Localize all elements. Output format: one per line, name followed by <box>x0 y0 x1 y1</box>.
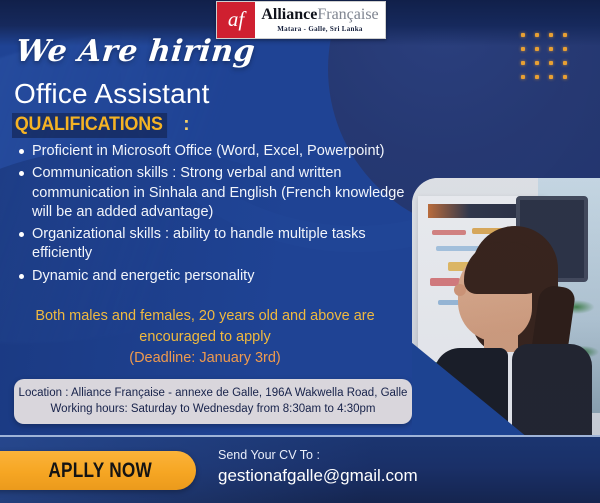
eligibility-line-2: encouraged to apply <box>139 329 270 345</box>
logo-name: AllianceFrançaise <box>261 7 378 23</box>
dot-grid-decoration <box>521 33 577 89</box>
list-item: Organizational skills : ability to handl… <box>32 225 424 264</box>
logo-subtitle: Matara - Galle, Sri Lanka <box>277 25 362 33</box>
qualifications-colon: : <box>183 114 189 136</box>
apply-now-button[interactable]: APLLY NOW <box>0 451 196 490</box>
logo-mark-af: af <box>217 2 255 38</box>
job-ad-poster: af AllianceFrançaise Matara - Galle, Sri… <box>0 0 600 503</box>
send-cv-label: Send Your CV To : <box>218 448 418 464</box>
qualifications-list: Proficient in Microsoft Office (Word, Ex… <box>14 142 424 289</box>
list-item: Communication skills : Strong verbal and… <box>32 164 424 222</box>
kicker-we-are-hiring: We Are hiring <box>14 34 257 69</box>
logo-name-alliance: Alliance <box>261 6 317 23</box>
qualifications-label: QUALIFICATIONS <box>12 113 167 138</box>
location-text: Location : Alliance Française - annexe d… <box>19 387 408 401</box>
list-item: Dynamic and energetic personality <box>32 267 424 286</box>
send-cv-block: Send Your CV To : gestionafgalle@gmail.c… <box>218 448 418 487</box>
list-item: Proficient in Microsoft Office (Word, Ex… <box>32 142 424 161</box>
page-title: Office Assistant <box>14 78 210 110</box>
contact-email[interactable]: gestionafgalle@gmail.com <box>218 465 418 487</box>
eligibility-note: Both males and females, 20 years old and… <box>16 306 394 369</box>
logo-name-francaise: Française <box>317 6 378 23</box>
eligibility-line-1: Both males and females, 20 years old and… <box>35 308 374 324</box>
location-info-box: Location : Alliance Française - annexe d… <box>14 379 412 424</box>
deadline-text: (Deadline: January 3rd) <box>16 348 394 369</box>
qualifications-heading: QUALIFICATIONS : <box>12 113 190 138</box>
working-hours-text: Working hours: Saturday to Wednesday fro… <box>51 403 376 417</box>
logo-text-block: AllianceFrançaise Matara - Galle, Sri La… <box>255 2 385 38</box>
apply-now-label: APLLY NOW <box>48 459 152 483</box>
